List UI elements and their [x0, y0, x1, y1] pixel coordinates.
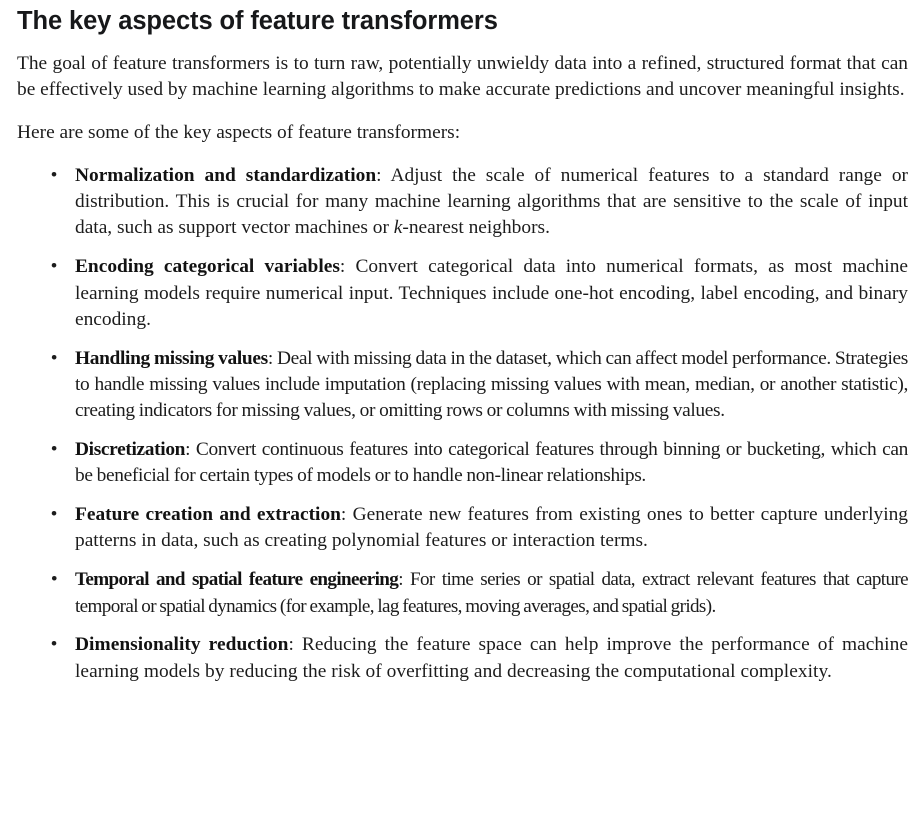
intro-paragraph: The goal of feature transformers is to t…: [17, 51, 908, 104]
list-item-term: Dimensionality reduction: [75, 634, 288, 655]
list-item-separator: :: [185, 439, 196, 460]
list-item-term: Normalization and standardization: [75, 165, 376, 186]
list-item-body: Convert continuous features into categor…: [75, 439, 908, 486]
bullet-icon: •: [47, 502, 61, 528]
bullet-icon: •: [47, 254, 61, 280]
bullet-icon: •: [47, 632, 61, 658]
bullet-icon: •: [47, 437, 61, 463]
list-item: • Temporal and spatial feature engineeri…: [17, 567, 908, 620]
document-page: The key aspects of feature transformers …: [0, 0, 922, 839]
list-item: • Handling missing values: Deal with mis…: [17, 346, 908, 425]
lead-in-paragraph: Here are some of the key aspects of feat…: [17, 120, 908, 146]
list-item-term: Encoding categorical variables: [75, 256, 340, 277]
page-title: The key aspects of feature transformers: [17, 0, 908, 36]
list-item-separator: :: [268, 348, 277, 369]
list-item: • Encoding categorical variables: Conver…: [17, 254, 908, 333]
list-item-term: Discretization: [75, 439, 185, 460]
key-aspects-list: • Normalization and standardization: Adj…: [17, 163, 908, 685]
list-item: • Feature creation and extraction: Gener…: [17, 502, 908, 555]
list-item-term: Temporal and spatial feature engineering: [75, 569, 398, 590]
list-item-term: Handling missing values: [75, 348, 268, 369]
bullet-icon: •: [47, 346, 61, 372]
list-item-separator: :: [376, 165, 390, 186]
list-item-separator: :: [398, 569, 410, 590]
list-item: • Dimensionality reduction: Reducing the…: [17, 632, 908, 685]
list-item: • Normalization and standardization: Adj…: [17, 163, 908, 242]
list-item-separator: :: [288, 634, 301, 655]
list-item-term: Feature creation and extraction: [75, 504, 341, 525]
list-item-body-tail: -nearest neighbors.: [402, 217, 550, 238]
list-item: • Discretization: Convert continuous fea…: [17, 437, 908, 490]
bullet-icon: •: [47, 567, 61, 593]
bullet-icon: •: [47, 163, 61, 189]
document-content: The key aspects of feature transformers …: [17, 0, 908, 685]
list-item-separator: :: [340, 256, 356, 277]
list-item-separator: :: [341, 504, 353, 525]
